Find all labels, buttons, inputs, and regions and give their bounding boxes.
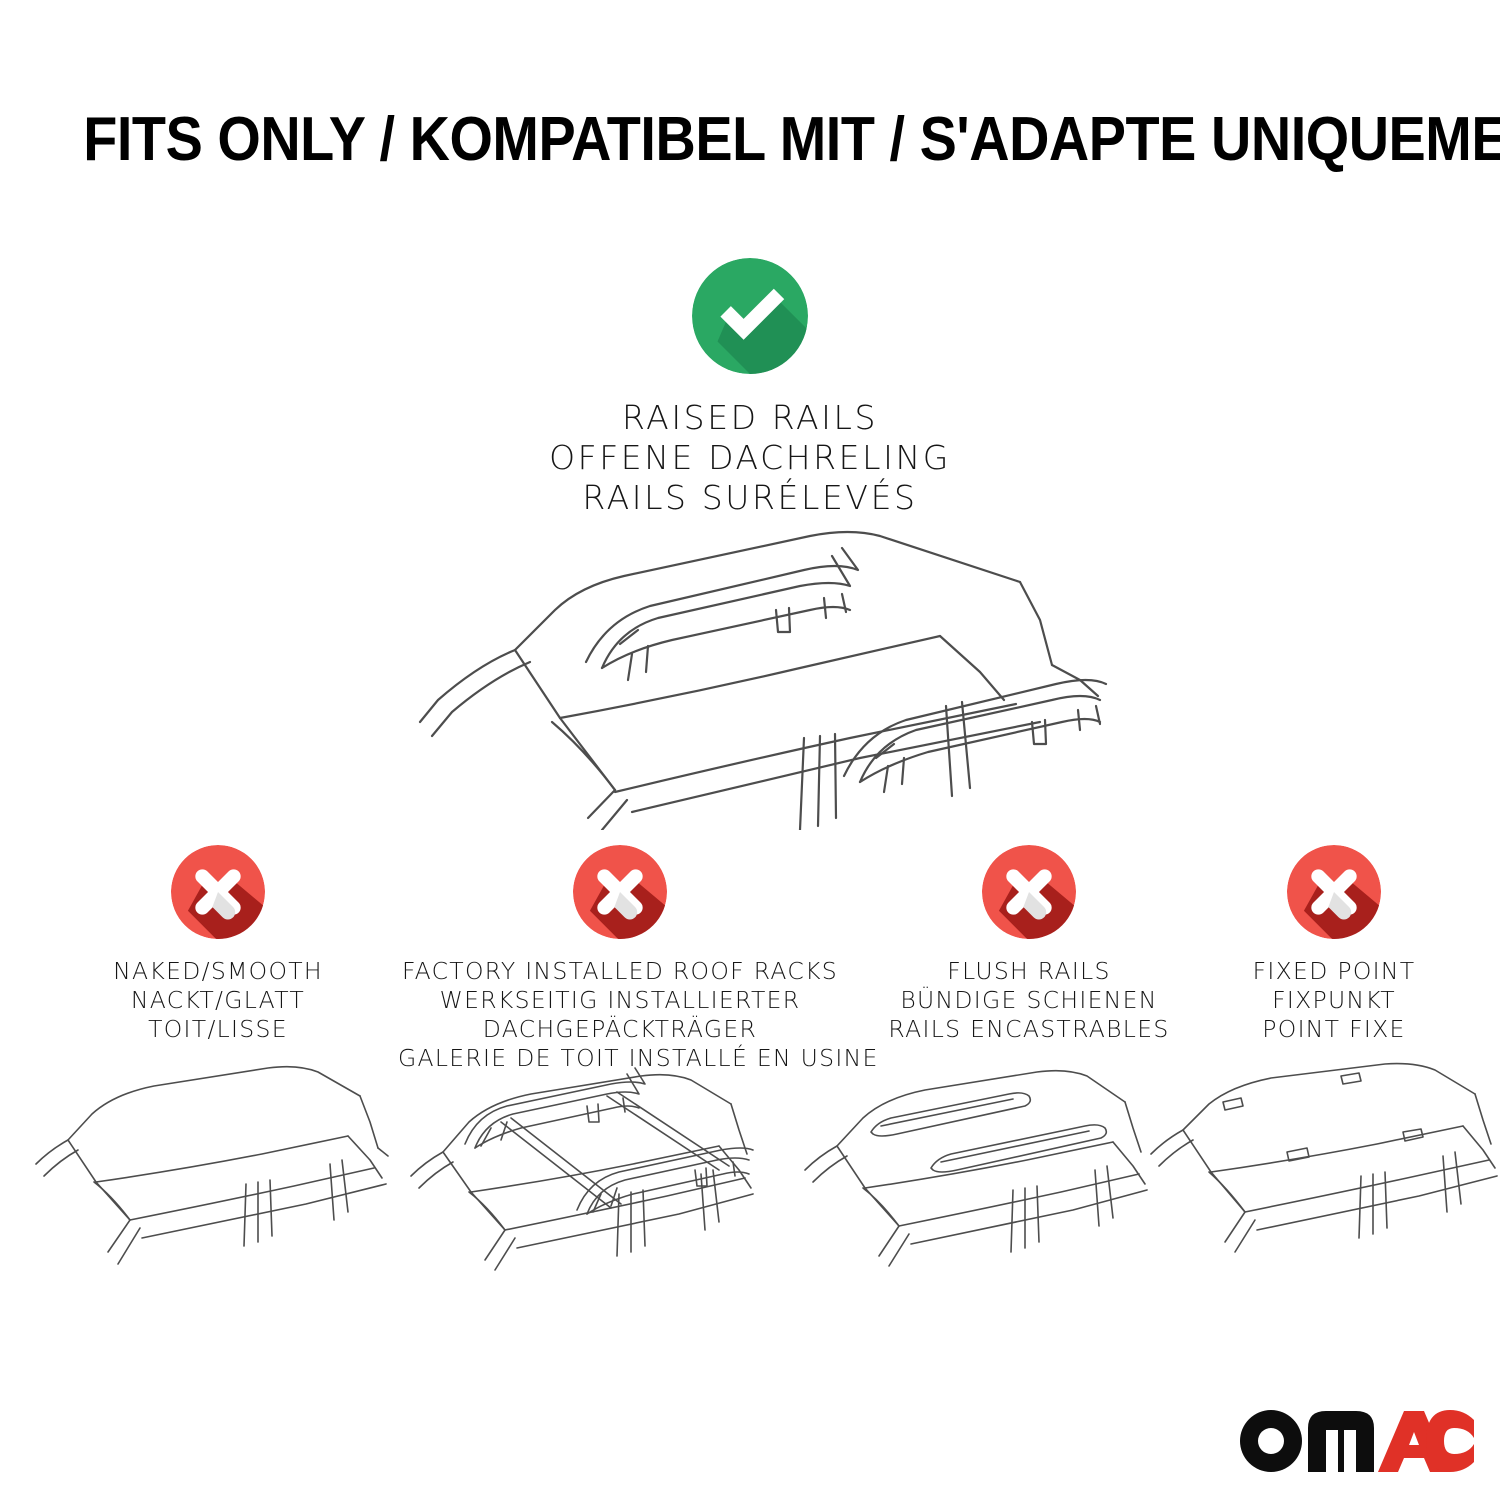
incompatible-item-flush-rails: FLUSH RAILS BÜNDIGE SCHIENEN RAILS ENCAS…	[853, 845, 1205, 1044]
caption-line-en: FIXED POINT	[1200, 957, 1468, 986]
cross-circle-icon	[982, 845, 1076, 939]
cross-circle-icon	[171, 845, 265, 939]
caption-line-de: NACKT/GLATT	[48, 986, 388, 1015]
omac-logo	[1238, 1408, 1474, 1474]
compatible-section: RAISED RAILS OFFENE DACHRELING RAILS SUR…	[0, 258, 1500, 518]
page-header: FITS ONLY / KOMPATIBEL MIT / S'ADAPTE UN…	[0, 104, 1500, 176]
incompatible-caption: NAKED/SMOOTH NACKT/GLATT TOIT/LISSE	[48, 957, 388, 1044]
car-roof-fixed-point-illustration	[1145, 1060, 1500, 1290]
car-roof-raised-rails-illustration	[380, 500, 1120, 830]
caption-line-de: BÜNDIGE SCHIENEN	[853, 986, 1205, 1015]
incompatible-caption: FACTORY INSTALLED ROOF RACKS WERKSEITIG …	[398, 957, 842, 1073]
roof-type-illustrations	[0, 1060, 1500, 1290]
check-circle-icon	[692, 258, 808, 374]
compatible-caption-line-en: RAISED RAILS	[549, 398, 951, 438]
compatible-caption-line-de: OFFENE DACHRELING	[549, 438, 951, 478]
cross-circle-icon	[1287, 845, 1381, 939]
car-roof-naked-illustration	[30, 1060, 390, 1290]
incompatible-caption: FLUSH RAILS BÜNDIGE SCHIENEN RAILS ENCAS…	[853, 957, 1205, 1044]
caption-line-en: NAKED/SMOOTH	[48, 957, 388, 986]
caption-line-en: FACTORY INSTALLED ROOF RACKS	[398, 957, 842, 986]
incompatible-section: NAKED/SMOOTH NACKT/GLATT TOIT/LISSE FACT…	[0, 845, 1500, 1095]
incompatible-item-naked-smooth: NAKED/SMOOTH NACKT/GLATT TOIT/LISSE	[48, 845, 388, 1044]
caption-line-fr: TOIT/LISSE	[48, 1015, 388, 1044]
incompatible-caption: FIXED POINT FIXPUNKT POINT FIXE	[1200, 957, 1468, 1044]
car-roof-flush-rails-illustration	[785, 1060, 1150, 1290]
caption-line-fr: POINT FIXE	[1200, 1015, 1468, 1044]
car-roof-factory-racks-illustration	[395, 1060, 755, 1290]
caption-line-de-1: WERKSEITIG INSTALLIERTER	[398, 986, 842, 1015]
incompatible-item-fixed-point: FIXED POINT FIXPUNKT POINT FIXE	[1200, 845, 1468, 1044]
cross-circle-icon	[573, 845, 667, 939]
incompatible-item-factory-roof-racks: FACTORY INSTALLED ROOF RACKS WERKSEITIG …	[398, 845, 842, 1073]
page-title: FITS ONLY / KOMPATIBEL MIT / S'ADAPTE UN…	[83, 104, 1500, 176]
caption-line-de: FIXPUNKT	[1200, 986, 1468, 1015]
caption-line-de-2: DACHGEPÄCKTRÄGER	[398, 1015, 842, 1044]
caption-line-en: FLUSH RAILS	[853, 957, 1205, 986]
caption-line-fr: RAILS ENCASTRABLES	[853, 1015, 1205, 1044]
